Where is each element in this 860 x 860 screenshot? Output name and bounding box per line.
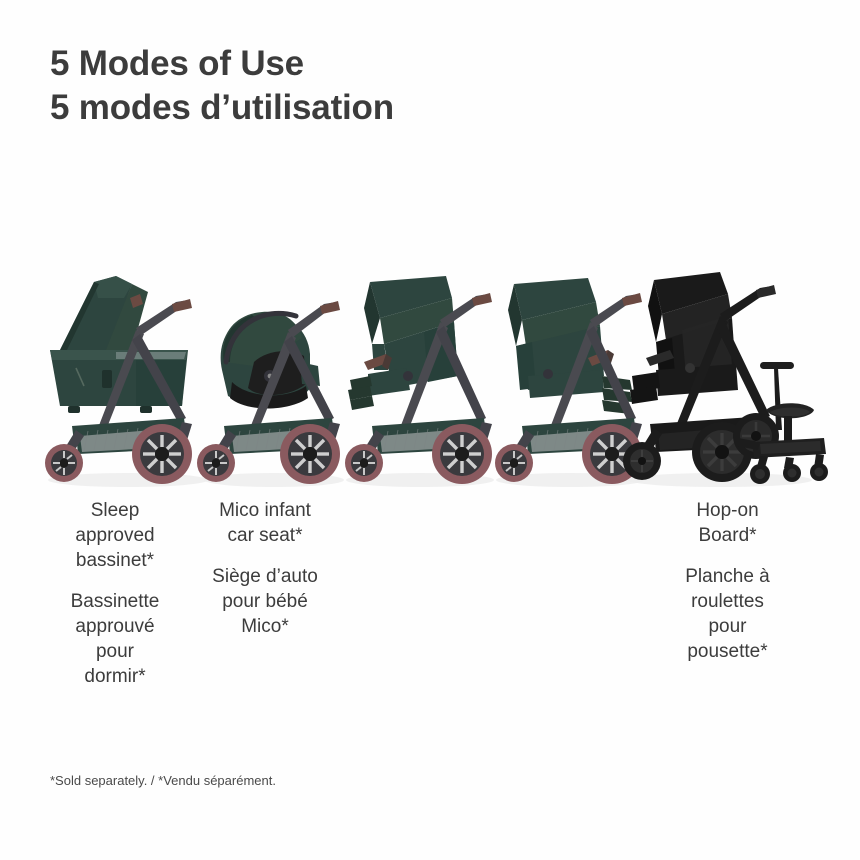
product-image-sleep-approved-bassinet	[36, 258, 216, 490]
caption-french-hop-on-board: Planche àroulettespourpousette*	[650, 564, 805, 664]
page-title-english: 5 Modes of Use	[50, 42, 750, 86]
product-image-mico-infant-car-seat	[192, 258, 352, 490]
caption-row: Sleepapprovedbassinet* Bassinetteapprouv…	[0, 498, 860, 698]
page-title-french: 5 modes d’utilisation	[50, 86, 750, 130]
caption-hop-on-board: Hop-onBoard* Planche àroulettespourpouse…	[650, 498, 805, 664]
caption-sleep-approved-bassinet: Sleepapprovedbassinet* Bassinetteapprouv…	[40, 498, 190, 689]
product-image-row	[0, 258, 860, 490]
product-image-parent-facing-seat	[334, 258, 504, 490]
marketing-panel: 5 Modes of Use 5 modes d’utilisation	[0, 0, 860, 860]
footnote-sold-separately: *Sold separately. / *Vendu séparément.	[50, 772, 276, 790]
caption-english-hop-on-board: Hop-onBoard*	[650, 498, 805, 548]
page-title: 5 Modes of Use 5 modes d’utilisation	[50, 42, 750, 130]
caption-mico-infant-car-seat: Mico infantcar seat* Siège d’autopour bé…	[185, 498, 345, 639]
caption-english-car-seat: Mico infantcar seat*	[185, 498, 345, 548]
caption-french-bassinet: Bassinetteapprouvépourdormir*	[40, 589, 190, 689]
caption-english-bassinet: Sleepapprovedbassinet*	[40, 498, 190, 573]
product-image-stroller-with-hop-on-board	[620, 258, 830, 490]
caption-french-car-seat: Siège d’autopour bébéMico*	[185, 564, 345, 639]
